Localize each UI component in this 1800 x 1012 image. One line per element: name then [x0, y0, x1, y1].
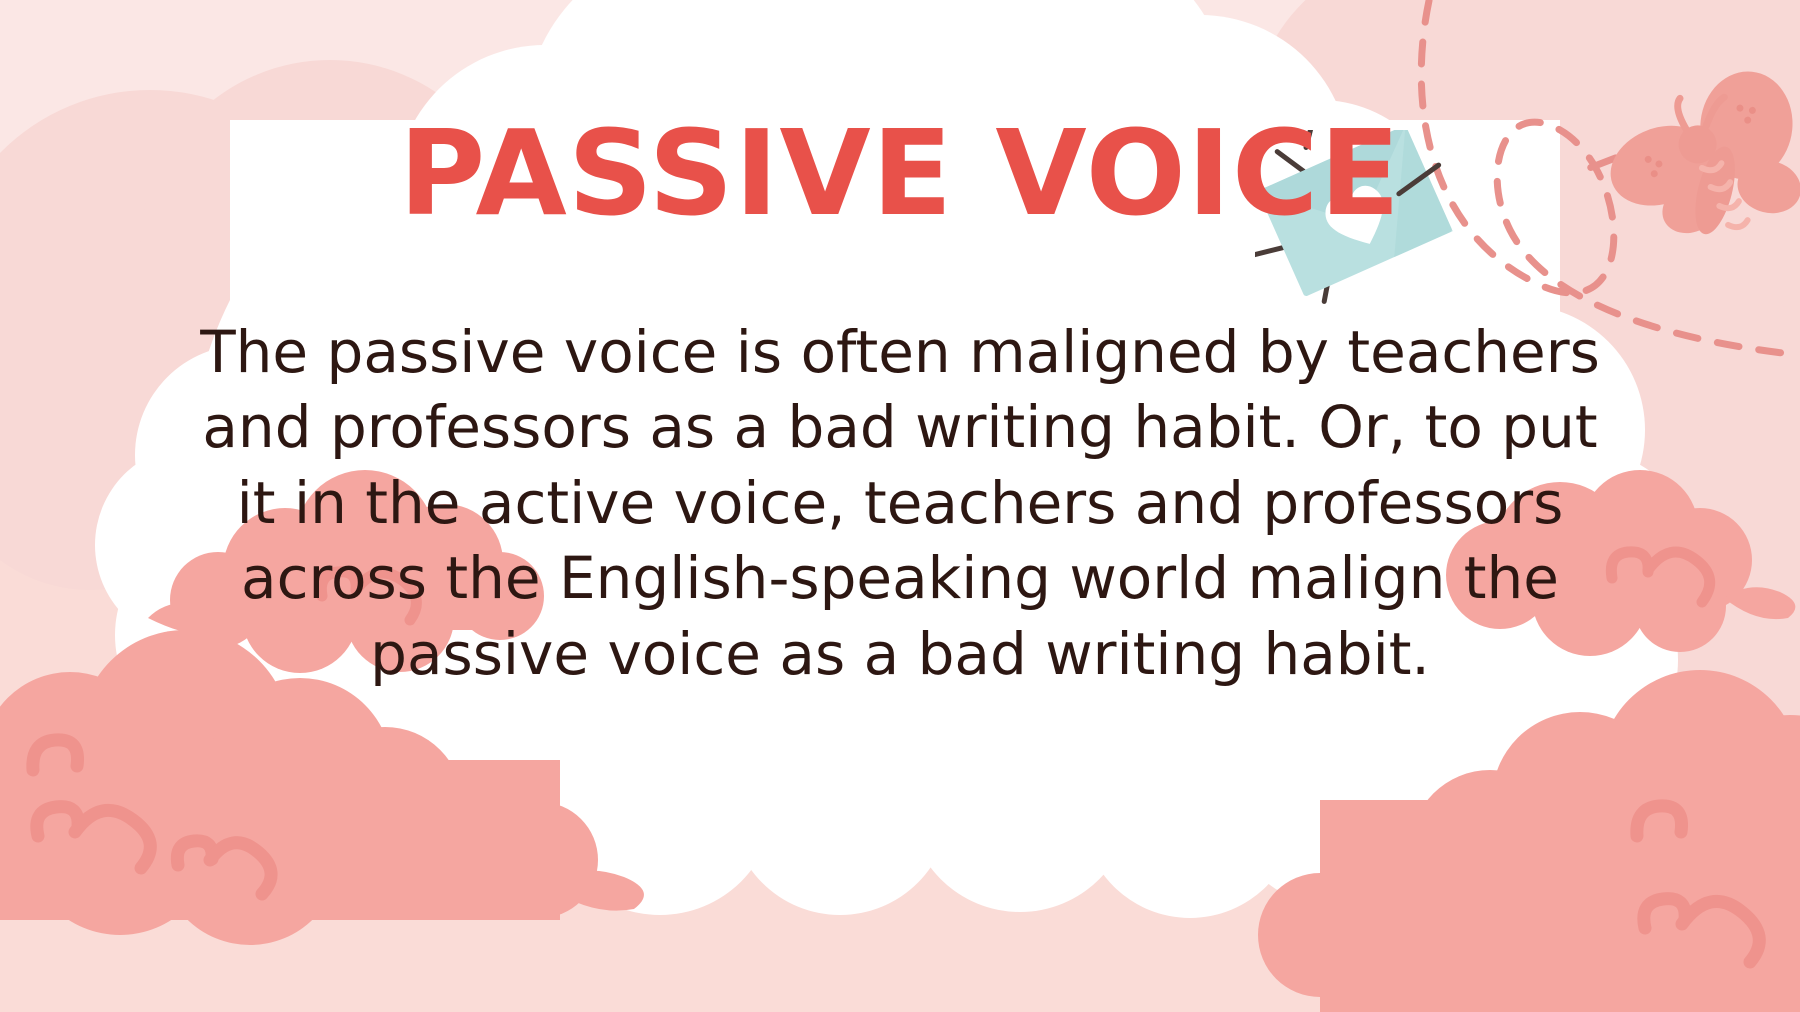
slide-body-paragraph: The passive voice is often maligned by t…: [180, 315, 1620, 692]
slide-canvas: PASSIVE VOICE The passive voice is often…: [0, 0, 1800, 1012]
text-content-layer: PASSIVE VOICE The passive voice is often…: [0, 0, 1800, 1012]
page-title: PASSIVE VOICE: [0, 112, 1800, 236]
